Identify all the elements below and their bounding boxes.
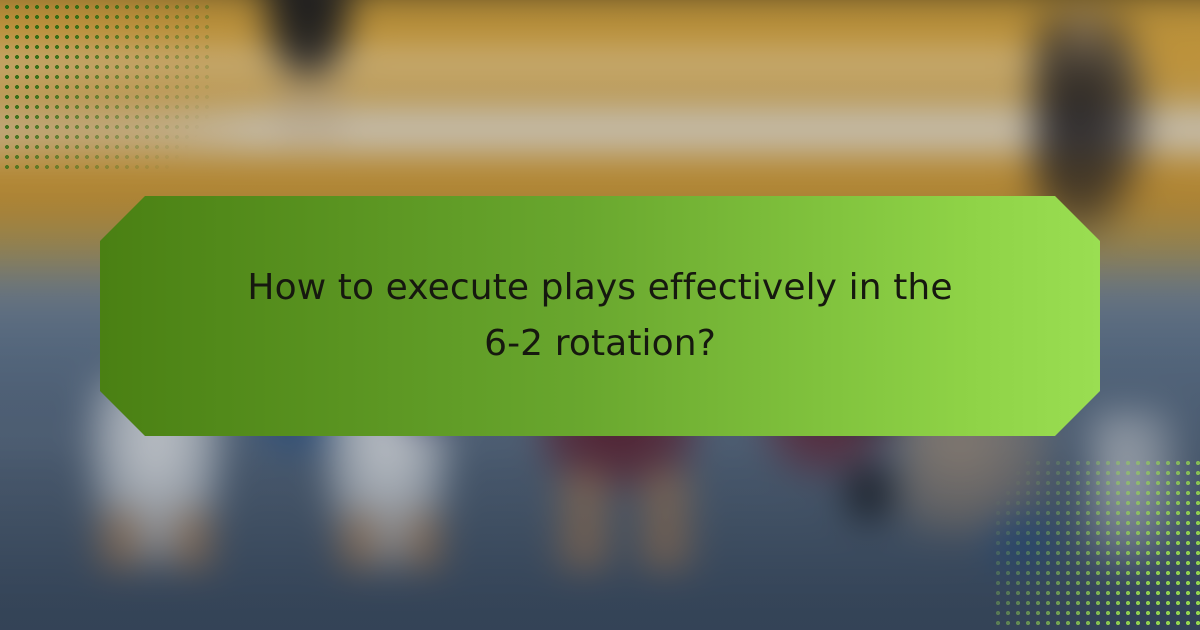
page-title: How to execute plays effectively in the … [235,260,965,372]
share-card: How to execute plays effectively in the … [0,0,1200,630]
title-banner: How to execute plays effectively in the … [100,196,1100,436]
